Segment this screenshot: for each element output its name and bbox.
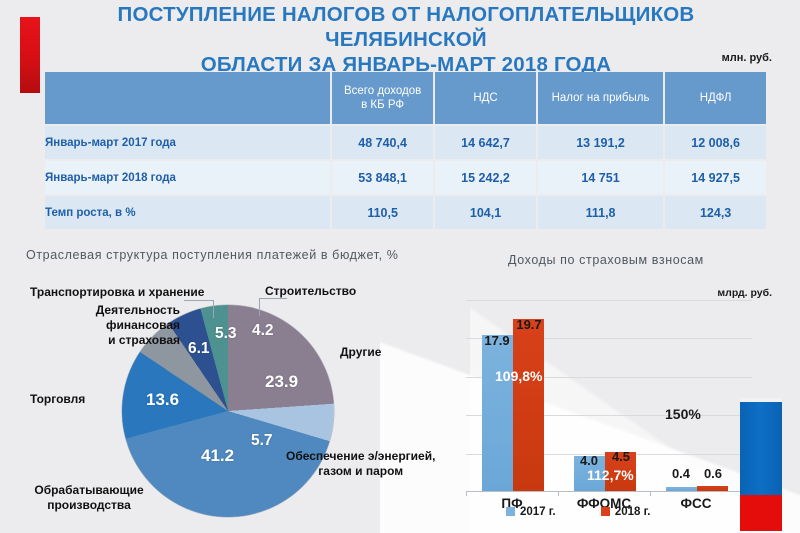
pie-value-trade: 13.6 — [146, 390, 179, 410]
tax-revenue-table: Всего доходов в КБ РФ НДС Налог на прибы… — [43, 70, 768, 231]
x-axis — [466, 491, 752, 492]
bar-2017-pf — [482, 335, 513, 491]
pie-chart-title: Отраслевая структура поступления платеже… — [26, 248, 398, 262]
bar-value-2018-ffoms: 4.5 — [590, 449, 652, 464]
table-cell-value: 13 191,2 — [538, 126, 663, 159]
bar-2017-fss — [666, 487, 697, 491]
legend-swatch-2018-icon — [601, 507, 610, 516]
bar-category-fss: ФСС — [650, 496, 742, 511]
slide-canvas: ПОСТУПЛЕНИЕ НАЛОГОВ ОТ НАЛОГОПЛАТЕЛЬЩИКО… — [0, 0, 800, 533]
pie-label-finance: Деятельность финансовая и страховая — [30, 303, 180, 348]
table-row-label: Январь-март 2017 года — [45, 126, 330, 159]
table-cell-value: 15 242,2 — [435, 161, 536, 194]
bar-growth-pf: 109,8% — [495, 368, 542, 384]
table-row-label: Январь-март 2018 года — [45, 161, 330, 194]
pie-label-trade: Торговля — [30, 392, 85, 407]
pie-leader-transport — [213, 300, 214, 318]
pie-value-others: 23.9 — [265, 372, 298, 392]
legend-item-2017: 2017 г. — [506, 506, 559, 518]
pie-label-manufacturing-line2: производства — [24, 498, 154, 513]
pie-label-energy-line2: газом и паром — [286, 464, 435, 479]
table-cell-value: 124,3 — [665, 196, 766, 229]
page-title: ПОСТУПЛЕНИЕ НАЛОГОВ ОТ НАЛОГОПЛАТЕЛЬЩИКО… — [44, 2, 768, 77]
table-cell-value: 104,1 — [435, 196, 536, 229]
pie-value-construction: 4.2 — [252, 322, 274, 340]
pie-label-others: Другие — [340, 345, 381, 360]
gridline — [466, 300, 752, 301]
legend-item-2018: 2018 г. — [601, 506, 651, 518]
bar-value-2018-fss: 0.6 — [682, 466, 744, 481]
table-row: Темп роста, в % 110,5 104,1 111,8 124,3 — [45, 196, 766, 229]
pie-leader-transport-h — [184, 300, 214, 301]
table-header-cell-blank — [45, 72, 330, 124]
pie-label-finance-line3: и страховая — [30, 333, 180, 348]
pie-label-construction: Строительство — [265, 284, 356, 299]
pie-label-finance-line1: Деятельность — [30, 303, 180, 318]
bar-value-2018-pf: 19.7 — [498, 317, 560, 332]
table-cell-value: 14 927,5 — [665, 161, 766, 194]
pie-value-manufacturing: 41.2 — [201, 446, 234, 466]
bar-2018-fss — [697, 486, 728, 491]
table-cell-value: 110,5 — [332, 196, 433, 229]
bar-chart-units-label: млрд. руб. — [717, 287, 772, 299]
pie-value-energy: 5.7 — [251, 432, 273, 450]
table-header-cell-profit-tax: Налог на прибыль — [538, 72, 663, 124]
table-header-row: Всего доходов в КБ РФ НДС Налог на прибы… — [45, 72, 766, 124]
table-header-total-line2: в КБ РФ — [332, 98, 433, 112]
table-header-cell-ndfl: НДФЛ — [665, 72, 766, 124]
table-row-label: Темп роста, в % — [45, 196, 330, 229]
table-cell-value: 53 848,1 — [332, 161, 433, 194]
table-header-total-line1: Всего доходов — [332, 84, 433, 98]
table-cell-value: 12 008,6 — [665, 126, 766, 159]
legend-label-2017: 2017 г. — [520, 506, 556, 518]
table-cell-value: 14 642,7 — [435, 126, 536, 159]
pie-label-energy-line1: Обеспечение э/энергией, — [286, 449, 435, 464]
legend-swatch-2017-icon — [506, 507, 515, 516]
table-row: Январь-март 2018 года 53 848,1 15 242,2 … — [45, 161, 766, 194]
pie-value-transport: 5.3 — [215, 325, 237, 343]
pie-leader-construction — [259, 298, 260, 316]
legend-label-2018: 2018 г. — [615, 506, 651, 518]
bar-chart-title: Доходы по страховым взносам — [508, 253, 704, 267]
bar-chart-legend: 2017 г. 2018 г. — [506, 506, 650, 518]
table-cell-value: 48 740,4 — [332, 126, 433, 159]
table-header-cell-total: Всего доходов в КБ РФ — [332, 72, 433, 124]
bar-value-2017-pf: 17.9 — [466, 333, 528, 348]
pie-leader-construction-h — [259, 298, 287, 299]
russian-flag-icon — [740, 398, 782, 531]
pie-label-manufacturing-line1: Обрабатывающие — [24, 483, 154, 498]
table-cell-value: 111,8 — [538, 196, 663, 229]
red-accent-bar — [20, 17, 40, 93]
flag-stripe-blue — [740, 402, 782, 495]
bar-growth-ffoms: 112,7% — [587, 467, 634, 483]
pie-label-finance-line2: финансовая — [30, 318, 180, 333]
pie-label-energy: Обеспечение э/энергией, газом и паром — [286, 449, 435, 479]
table-units-label: млн. руб. — [722, 52, 772, 64]
bar-growth-fss: 150% — [665, 406, 701, 422]
pie-label-transport: Транспортировка и хранение — [30, 285, 204, 300]
flag-stripe-red — [740, 495, 782, 531]
page-title-line1: ПОСТУПЛЕНИЕ НАЛОГОВ ОТ НАЛОГОПЛАТЕЛЬЩИКО… — [118, 3, 695, 51]
table-row: Январь-март 2017 года 48 740,4 14 642,7 … — [45, 126, 766, 159]
table-cell-value: 14 751 — [538, 161, 663, 194]
pie-value-finance: 6.1 — [188, 340, 210, 358]
pie-label-manufacturing: Обрабатывающие производства — [24, 483, 154, 513]
table-header-cell-nds: НДС — [435, 72, 536, 124]
